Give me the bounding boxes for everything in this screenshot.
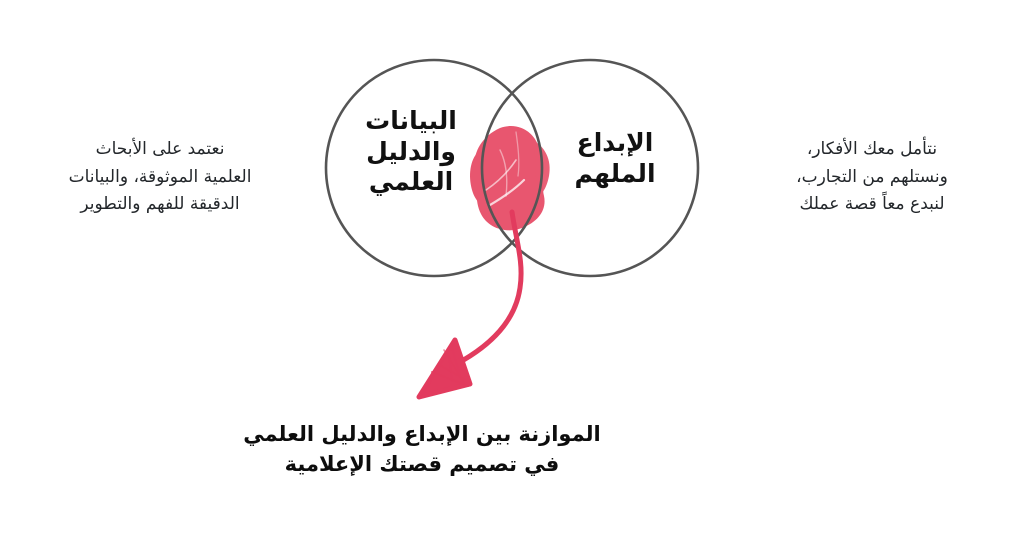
right-annotation-text: نتأمل معك الأفكار، ونستلهم من التجارب، ل…	[752, 136, 992, 219]
left-annotation-text: نعتمد على الأبحاث العلمية الموثوقة، والب…	[40, 136, 280, 219]
venn-left-circle-label: البيانات والدليل العلمي	[336, 106, 486, 198]
arrowhead	[419, 340, 470, 397]
bottom-caption: الموازنة بين الإبداع والدليل العلمي في ت…	[162, 420, 682, 480]
curved-arrow	[419, 212, 521, 397]
infographic-canvas: البيانات والدليل العلمي الإبداع الملهم ن…	[0, 0, 1024, 556]
venn-right-circle-label: الإبداع الملهم	[540, 128, 690, 189]
